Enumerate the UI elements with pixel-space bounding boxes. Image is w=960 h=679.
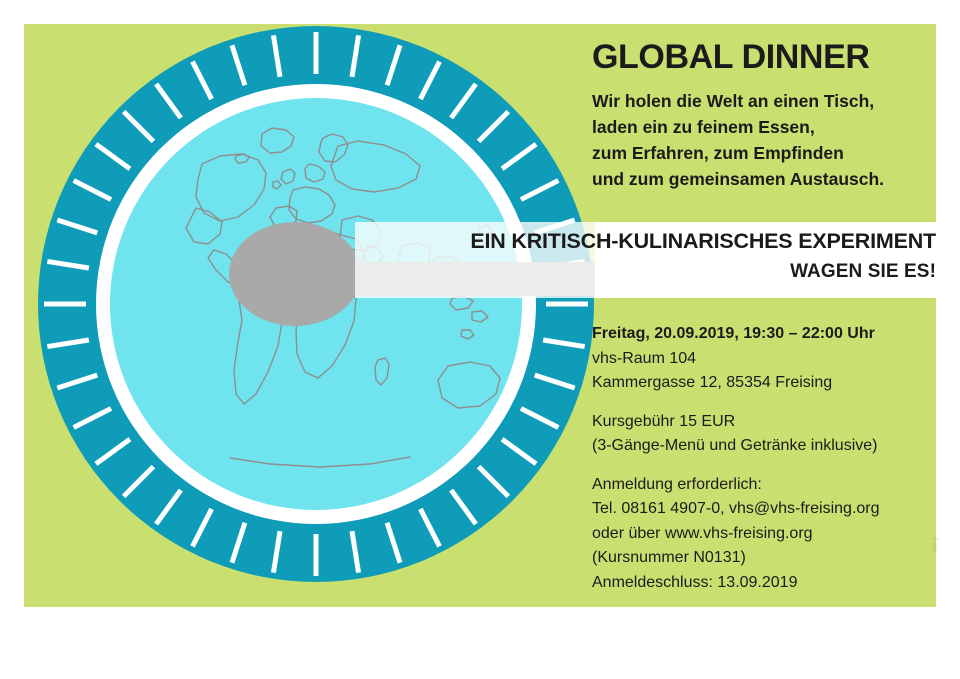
event-fee: Kursgebühr 15 EUR [592, 410, 942, 435]
poster-canvas: EIN KRITISCH-KULINARISCHES EXPERIMENT WA… [0, 0, 960, 679]
banner-headline: EIN KRITISCH-KULINARISCHES EXPERIMENT [336, 229, 936, 254]
detail-group-when-where: Freitag, 20.09.2019, 19:30 – 22:00 Uhr v… [592, 322, 942, 396]
event-details-block: Freitag, 20.09.2019, 19:30 – 22:00 Uhr v… [592, 322, 942, 595]
vertical-photo-credit: Foto [931, 538, 937, 552]
registration-contact: Tel. 08161 4907-0, vhs@vhs-freising.org [592, 497, 942, 522]
event-datetime: Freitag, 20.09.2019, 19:30 – 22:00 Uhr [592, 322, 942, 347]
subheadline-line-1: Wir holen die Welt an einen Tisch, [592, 88, 942, 114]
detail-group-registration: Anmeldung erforderlich: Tel. 08161 4907-… [592, 473, 942, 596]
event-room: vhs-Raum 104 [592, 347, 942, 372]
event-address: Kammergasse 12, 85354 Freising [592, 371, 942, 396]
subheadline-line-3: zum Erfahren, zum Empfinden [592, 140, 942, 166]
globe-plate-graphic [38, 26, 594, 582]
registration-website: oder über www.vhs-freising.org [592, 522, 942, 547]
continents-outline [110, 98, 522, 510]
registration-deadline: Anmeldeschluss: 13.09.2019 [592, 571, 942, 596]
registration-heading: Anmeldung erforderlich: [592, 473, 942, 498]
detail-group-fee: Kursgebühr 15 EUR (3-Gänge-Menü und Getr… [592, 410, 942, 459]
subheadline-block: Wir holen die Welt an einen Tisch, laden… [592, 88, 942, 192]
banner-subline: WAGEN SIE ES! [336, 261, 936, 283]
world-map-disc [110, 98, 522, 510]
registration-course-number: (Kursnummer N0131) [592, 546, 942, 571]
subheadline-line-2: laden ein zu feinem Essen, [592, 114, 942, 140]
page-title: GLOBAL DINNER [592, 38, 870, 77]
event-fee-note: (3-Gänge-Menü und Getränke inklusive) [592, 434, 942, 459]
subheadline-line-4: und zum gemeinsamen Austausch. [592, 166, 942, 192]
footer-bar: Veranstaltet von vhs Freising e.V., Welt… [0, 607, 960, 679]
